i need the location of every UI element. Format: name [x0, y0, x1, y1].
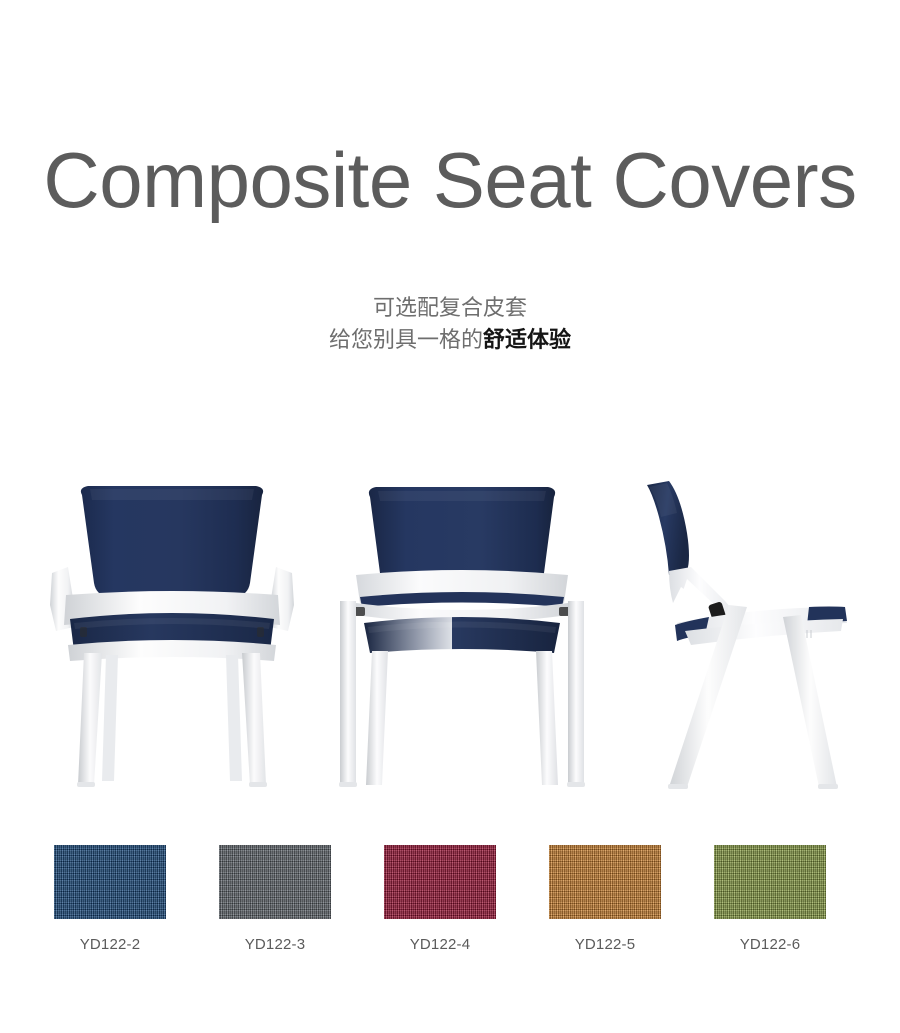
chair-image-front-view: [22, 455, 322, 810]
subtitle-line-1: 可选配复合皮套: [0, 292, 900, 324]
fabric-swatch-chip[interactable]: [54, 845, 166, 919]
fabric-swatch-label: YD122-4: [384, 936, 496, 954]
fabric-swatch-chip[interactable]: [219, 845, 331, 919]
swatch-item[interactable]: YD122-2: [54, 845, 166, 954]
swatch-item[interactable]: YD122-5: [549, 845, 661, 954]
subtitle-block: 可选配复合皮套 给您别具一格的舒适体验: [0, 292, 900, 356]
chair-rear-view-icon: [312, 455, 612, 810]
chair-front-view-icon: [22, 455, 322, 810]
fabric-swatch-label: YD122-3: [219, 936, 331, 954]
subtitle-line-2-normal: 给您别具一格的: [329, 327, 483, 352]
subtitle-line-2: 给您别具一格的舒适体验: [0, 324, 900, 356]
chair-image-rear-view: [312, 455, 612, 810]
page-title: Composite Seat Covers: [0, 132, 900, 228]
fabric-swatch-chip[interactable]: [384, 845, 496, 919]
fabric-swatch-label: YD122-2: [54, 936, 166, 954]
fabric-swatch-chip[interactable]: [714, 845, 826, 919]
subtitle-line-2-emphasis: 舒适体验: [483, 327, 571, 352]
swatch-item[interactable]: YD122-3: [219, 845, 331, 954]
fabric-swatch-label: YD122-6: [714, 936, 826, 954]
fabric-swatch-row: YD122-2 YD122-3 YD122-4 YD122-5 YD122-6: [0, 845, 900, 965]
chair-side-view-icon: [625, 455, 890, 810]
fabric-swatch-chip[interactable]: [549, 845, 661, 919]
fabric-swatch-label: YD122-5: [549, 936, 661, 954]
chair-image-side-view: [625, 455, 890, 810]
swatch-item[interactable]: YD122-6: [714, 845, 826, 954]
chair-gallery: [0, 455, 900, 810]
product-feature-page: Composite Seat Covers 可选配复合皮套 给您别具一格的舒适体…: [0, 0, 900, 1033]
swatch-item[interactable]: YD122-4: [384, 845, 496, 954]
